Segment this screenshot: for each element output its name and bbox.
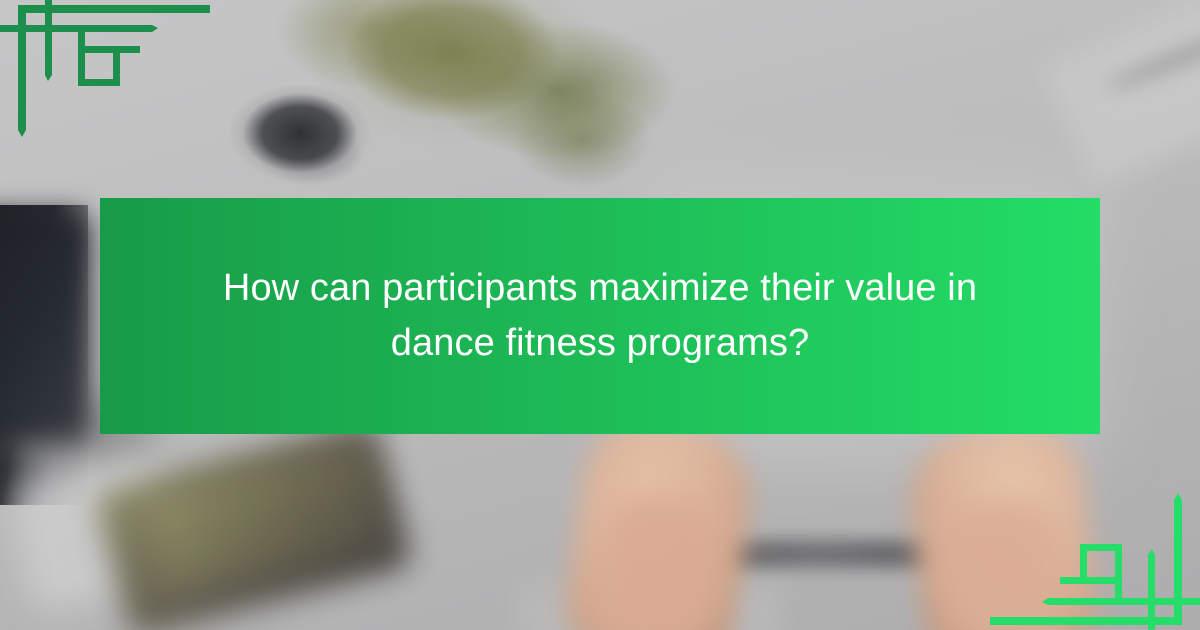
- headline-banner: How can participants maximize their valu…: [100, 198, 1100, 434]
- tablet-device-blur: [0, 212, 90, 442]
- page-title: How can participants maximize their valu…: [200, 261, 1000, 370]
- corner-ornament-top-left-icon: [0, 0, 210, 150]
- corner-ornament-bottom-right-icon: [990, 480, 1200, 630]
- screenshot-canvas: How can participants maximize their valu…: [0, 0, 1200, 630]
